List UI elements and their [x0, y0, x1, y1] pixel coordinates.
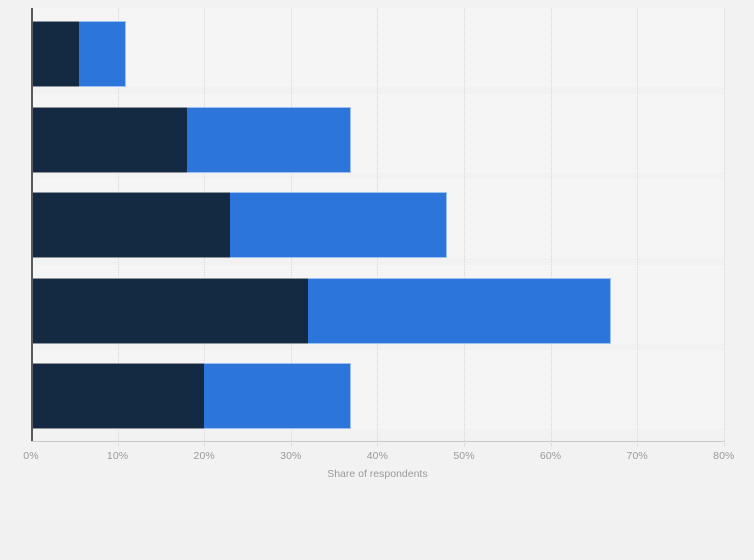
bar-segment-series-2[interactable]	[187, 107, 352, 173]
tick-mark	[551, 441, 553, 446]
x-tick-label: 60%	[540, 450, 561, 462]
y-axis-line	[31, 8, 33, 442]
tick-mark	[637, 441, 639, 446]
bar-segment-series-1[interactable]	[31, 107, 187, 173]
x-tick-label: 70%	[627, 450, 648, 462]
plot-area	[31, 8, 724, 441]
bar-segment-series-2[interactable]	[204, 363, 351, 429]
bar-segment-series-2[interactable]	[79, 21, 127, 87]
footer-strip	[0, 518, 754, 560]
bar-segment-series-1[interactable]	[31, 363, 204, 429]
gridline-80%	[724, 8, 726, 441]
x-tick-label: 40%	[367, 450, 388, 462]
bars-layer	[31, 8, 724, 441]
tick-mark	[377, 441, 379, 446]
x-tick-label: 20%	[194, 450, 215, 462]
tick-mark	[464, 441, 466, 446]
x-axis-title: Share of respondents	[327, 468, 427, 480]
bar-segment-series-2[interactable]	[308, 278, 611, 344]
bar-segment-series-1[interactable]	[31, 192, 230, 258]
tick-mark	[118, 441, 120, 446]
bar-segment-series-2[interactable]	[230, 192, 447, 258]
bar-segment-series-1[interactable]	[31, 21, 79, 87]
tick-mark	[291, 441, 293, 446]
tick-mark	[204, 441, 206, 446]
x-tick-label: 0%	[23, 450, 38, 462]
stacked-bar-chart: 0%10%20%30%40%50%60%70%80% Share of resp…	[0, 0, 754, 560]
x-tick-label: 80%	[713, 450, 734, 462]
x-tick-label: 10%	[107, 450, 128, 462]
tick-mark	[724, 441, 726, 446]
x-tick-label: 30%	[280, 450, 301, 462]
x-tick-label: 50%	[453, 450, 474, 462]
bar-segment-series-1[interactable]	[31, 278, 308, 344]
